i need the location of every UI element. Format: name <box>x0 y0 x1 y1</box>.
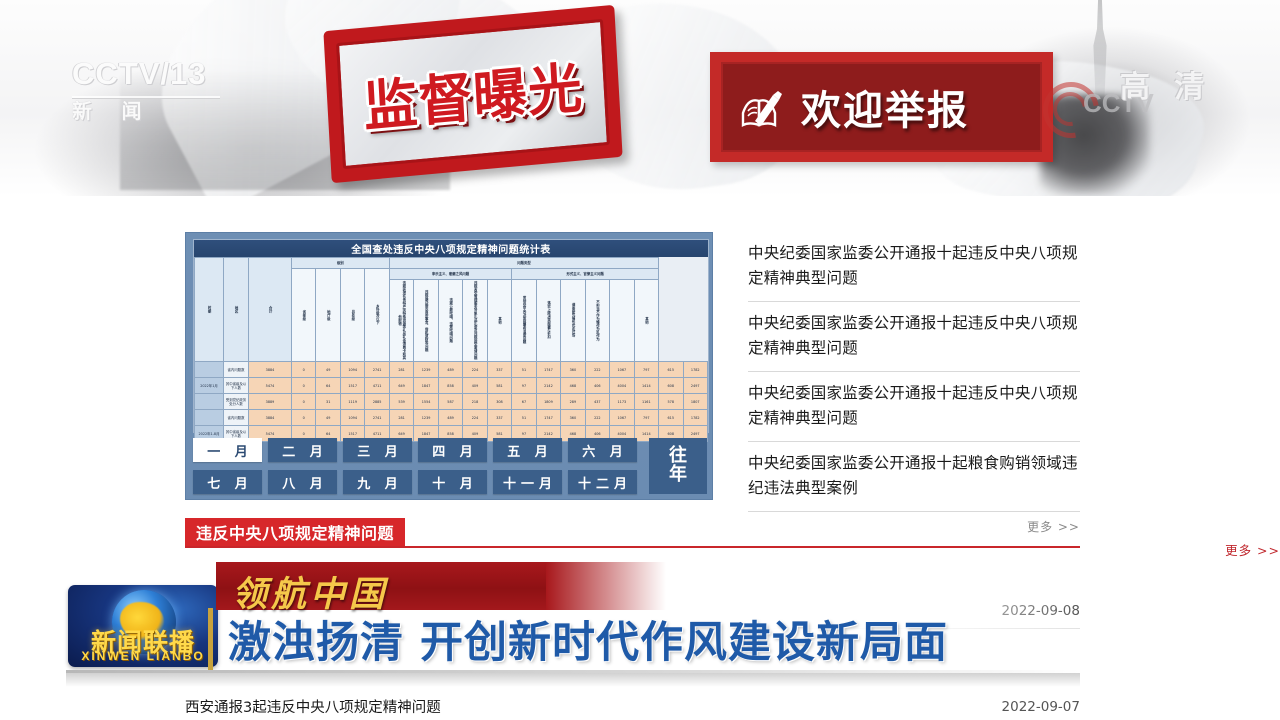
th-total: 合计 <box>249 258 292 362</box>
row-period <box>195 410 224 426</box>
cctv-logo-subtitle: 新 闻 <box>72 95 222 124</box>
statistics-table-wrapper: 全国查处违反中央八项规定精神问题统计表 时期 地区 合计 级别 问题类型 省部级… <box>193 239 709 433</box>
table-cell: 1747 <box>536 410 560 426</box>
table-cell: 4004 <box>610 378 634 394</box>
table-cell: 1847 <box>414 378 438 394</box>
statistics-table: 时期 地区 合计 级别 问题类型 省部级 地厅级 县处级 乡科级及以下 享乐主义… <box>194 257 708 442</box>
list-item[interactable]: 中央纪委国家监委公开通报十起违反中央八项规定精神典型问题 <box>748 372 1080 442</box>
cctv-channel-number: 13 <box>170 56 206 91</box>
table-cell: 649 <box>389 378 413 394</box>
table-cell: 615 <box>659 410 683 426</box>
th-formalism-group: 形式主义、官僚主义问题 <box>512 269 659 280</box>
table-cell: 489 <box>438 362 462 378</box>
month-button-8[interactable]: 八 月 <box>268 470 337 494</box>
table-cell: 2497 <box>683 378 708 394</box>
row-period <box>195 362 224 378</box>
th-form-1: 贯彻党中央决策部署有温度问题 <box>512 280 536 362</box>
table-cell: 581 <box>487 378 511 394</box>
table-cell: 409 <box>463 378 487 394</box>
month-button-label: 八 月 <box>277 473 328 492</box>
table-cell: 360 <box>561 362 585 378</box>
news-title: 中央纪委国家监委公开通报十起粮食购销领域违纪违法典型案例 <box>748 451 1080 501</box>
row-period: 2022年1月 <box>195 378 224 394</box>
th-level-3: 县处级 <box>340 269 364 362</box>
month-button-label: 五 月 <box>502 441 553 460</box>
table-cell: 1094 <box>340 362 364 378</box>
table-cell: 615 <box>659 362 683 378</box>
table-cell: 1173 <box>610 394 634 410</box>
statistics-table-title: 全国查处违反中央八项规定精神问题统计表 <box>194 240 708 257</box>
month-button-label: 十 月 <box>427 473 478 492</box>
th-period: 时期 <box>195 258 224 362</box>
table-cell: 1414 <box>634 378 658 394</box>
month-button-12[interactable]: 十二月 <box>568 470 637 494</box>
section-divider-line <box>185 546 1080 548</box>
table-cell: 281 <box>389 362 413 378</box>
row-divider <box>185 628 1080 629</box>
table-cell: 797 <box>634 362 658 378</box>
table-cell: 49 <box>316 362 340 378</box>
news-title: 中央纪委国家监委公开通报十起违反中央八项规定精神典型问题 <box>748 241 1080 291</box>
section-banner-label: 违反中央八项规定精神问题 <box>196 520 394 544</box>
report-badge-inner: 欢迎举报 <box>721 62 1042 152</box>
month-button-label: 一 月 <box>202 441 253 460</box>
table-cell: 3884 <box>249 362 292 378</box>
th-hed-5: 其他 <box>487 280 511 362</box>
th-hed-1: 违规收送名贵特产类特殊资源等礼品礼金消费卡和其他财物 <box>389 280 413 362</box>
plaque-inner-panel: 监督曝光 <box>336 19 610 169</box>
table-cell: 1809 <box>536 394 560 410</box>
table-cell: 0 <box>292 362 316 378</box>
table-cell: 51 <box>512 410 536 426</box>
table-cell: 1239 <box>414 410 438 426</box>
table-cell: 308 <box>487 394 511 410</box>
th-level-2: 地厅级 <box>316 269 340 362</box>
table-cell: 222 <box>585 362 609 378</box>
broadcast-screen: CCTV/13 新 闻 监督曝光 <box>0 0 1280 720</box>
table-cell: 437 <box>585 394 609 410</box>
th-form-6: 其他 <box>634 280 658 362</box>
table-cell: 289 <box>561 394 585 410</box>
plaque-title: 监督曝光 <box>340 41 605 144</box>
cctv13-logo: CCTV/13 新 闻 <box>72 56 222 136</box>
report-pen-book-icon <box>739 83 787 131</box>
month-button-3[interactable]: 三 月 <box>343 438 412 462</box>
table-cell: 1554 <box>414 394 438 410</box>
month-button-1[interactable]: 一 月 <box>193 438 262 462</box>
month-button-4[interactable]: 四 月 <box>418 438 487 462</box>
news-list: 中央纪委国家监委公开通报十起违反中央八项规定精神典型问题 中央纪委国家监委公开通… <box>748 232 1080 535</box>
table-row: 省内问题数38840491094274128112394892243375117… <box>195 362 708 378</box>
statistics-table-body: 省内问题数38840491094274128112394892243375117… <box>195 362 708 442</box>
section-banner: 违反中央八项规定精神问题 <box>185 518 405 546</box>
month-button-10[interactable]: 十 月 <box>418 470 487 494</box>
table-row: 2022年1月其中省级及以下人数547406415174711649184785… <box>195 378 708 394</box>
table-cell: 539 <box>389 394 413 410</box>
table-cell: 406 <box>585 378 609 394</box>
hd-watermark: 高 清 <box>1120 62 1212 106</box>
statistics-table-head: 时期 地区 合计 级别 问题类型 省部级 地厅级 县处级 乡科级及以下 享乐主义… <box>195 258 708 362</box>
month-button-label: 三 月 <box>352 441 403 460</box>
month-button-7[interactable]: 七 月 <box>193 470 262 494</box>
th-level-group: 级别 <box>292 258 390 269</box>
table-cell: 337 <box>487 362 511 378</box>
table-row: 省内问题数38840491094274128112394892243375117… <box>195 410 708 426</box>
table-cell: 51 <box>512 362 536 378</box>
table-cell: 0 <box>292 378 316 394</box>
table-cell: 337 <box>487 410 511 426</box>
table-header-row-1: 时期 地区 合计 级别 问题类型 <box>195 258 708 269</box>
month-button-label: 七 月 <box>202 473 253 492</box>
table-cell: 67 <box>512 394 536 410</box>
table-cell: 1067 <box>610 410 634 426</box>
table-cell: 2741 <box>365 362 389 378</box>
table-cell: 1161 <box>634 394 658 410</box>
table-row[interactable]: 西安通报3起违反中央八项规定精神问题 2022-09-07 <box>185 696 1080 717</box>
month-button-label: 四 月 <box>427 441 478 460</box>
table-cell: 797 <box>634 410 658 426</box>
table-cell: 1747 <box>536 362 560 378</box>
welcome-report-badge[interactable]: 欢迎举报 <box>710 52 1053 162</box>
row-region: 省内问题数 <box>224 362 249 378</box>
table-cell: 1094 <box>340 410 364 426</box>
th-hed-4: 违规收受管理服务对象礼品礼金及违规接受宴请问题 <box>463 280 487 362</box>
bottom-news-date: 2022-09-07 <box>1002 699 1080 715</box>
supervision-exposure-plaque: 监督曝光 <box>323 5 622 183</box>
table-cell: 0 <box>292 394 316 410</box>
table-cell: 1782 <box>683 410 708 426</box>
month-button-9[interactable]: 九 月 <box>343 470 412 494</box>
bottom-news-date: 2022-09-08 <box>1002 603 1080 619</box>
th-hed-3: 违规公款吃喝、违规吃喝问题 <box>438 280 462 362</box>
table-cell: 218 <box>463 394 487 410</box>
table-row: 受到党纪政务处分人数388903111192885539155458721830… <box>195 394 708 410</box>
table-cell: 222 <box>585 410 609 426</box>
list-item[interactable]: 中央纪委国家监委公开通报十起违反中央八项规定精神典型问题 <box>748 232 1080 302</box>
month-button-label: 十一月 <box>498 473 557 492</box>
news-list-more-link[interactable]: 更多 >> <box>748 512 1080 535</box>
statistics-panel: 全国查处违反中央八项规定精神问题统计表 时期 地区 合计 级别 问题类型 省部级… <box>185 232 713 500</box>
row-region: 其中省级及以下人数 <box>224 378 249 394</box>
table-cell: 2142 <box>536 378 560 394</box>
table-cell: 360 <box>561 410 585 426</box>
row-region: 受到党纪政务处分人数 <box>224 394 249 410</box>
table-cell: 1807 <box>683 394 708 410</box>
month-button-label: 二 月 <box>277 441 328 460</box>
th-hed-2: 违规操办婚丧喜庆事宜、借机敛财等问题 <box>414 280 438 362</box>
table-cell: 1517 <box>340 378 364 394</box>
month-button-label: 十二月 <box>573 473 632 492</box>
cctv-wordmark: CCTV <box>72 56 160 91</box>
th-form-5 <box>610 280 634 362</box>
news-title: 中央纪委国家监委公开通报十起违反中央八项规定精神典型问题 <box>748 381 1080 431</box>
th-level-1: 省部级 <box>292 269 316 362</box>
table-cell: 5474 <box>249 378 292 394</box>
table-cell: 489 <box>438 410 462 426</box>
table-cell: 468 <box>561 378 585 394</box>
previous-years-button[interactable]: 往 年 <box>649 438 707 494</box>
table-cell: 3884 <box>249 410 292 426</box>
table-cell: 587 <box>438 394 462 410</box>
main-content: 全国查处违反中央八项规定精神问题统计表 时期 地区 合计 级别 问题类型 省部级… <box>0 196 1280 720</box>
table-cell: 858 <box>438 378 462 394</box>
table-cell: 1239 <box>414 362 438 378</box>
year-button-line2: 年 <box>669 466 687 485</box>
table-cell: 2885 <box>365 394 389 410</box>
month-button-11[interactable]: 十一月 <box>493 470 562 494</box>
th-hedonism-group: 享乐主义、奢靡之风问题 <box>389 269 511 280</box>
header-banner: CCTV/13 新 闻 监督曝光 <box>0 0 1280 196</box>
table-cell: 224 <box>463 362 487 378</box>
table-cell: 1782 <box>683 362 708 378</box>
table-cell: 224 <box>463 410 487 426</box>
month-button-2[interactable]: 二 月 <box>268 438 337 462</box>
table-cell: 0 <box>292 410 316 426</box>
news-title: 中央纪委国家监委公开通报十起违反中央八项规定精神典型问题 <box>748 311 1080 361</box>
table-cell: 1119 <box>340 394 364 410</box>
th-form-4: 不担当不作为慢作为乱作为 <box>585 280 609 362</box>
table-cell: 97 <box>512 378 536 394</box>
table-row[interactable]: 中央纪委国家监委公开通报十起违反中央八项规定精神典型问题 2022-09-08 <box>185 600 1080 621</box>
logo-divider-line <box>72 96 220 98</box>
month-button-label: 九 月 <box>352 473 403 492</box>
list-item[interactable]: 中央纪委国家监委公开通报十起违反中央八项规定精神典型问题 <box>748 302 1080 372</box>
th-region: 地区 <box>224 258 249 362</box>
month-button-6[interactable]: 六 月 <box>568 438 637 462</box>
table-cell: 281 <box>389 410 413 426</box>
th-content-group: 问题类型 <box>389 258 658 269</box>
bottom-news-title: 中央纪委国家监委公开通报十起违反中央八项规定精神典型问题 <box>185 600 591 621</box>
table-cell: 31 <box>316 394 340 410</box>
th-form-2: 落实上级决策部署打折扣 <box>536 280 560 362</box>
table-cell: 3889 <box>249 394 292 410</box>
report-badge-label: 欢迎举报 <box>801 78 969 136</box>
th-level-4: 乡科级及以下 <box>365 269 389 362</box>
table-cell: 608 <box>659 378 683 394</box>
table-cell: 2741 <box>365 410 389 426</box>
table-cell: 64 <box>316 378 340 394</box>
cctv-logo-text: CCTV/13 <box>72 56 222 92</box>
th-form-3: 调查研究搞形式走过场 <box>561 280 585 362</box>
table-cell: 4711 <box>365 378 389 394</box>
month-button-label: 六 月 <box>577 441 628 460</box>
row-period <box>195 394 224 410</box>
row-region: 省内问题数 <box>224 410 249 426</box>
table-cell: 1067 <box>610 362 634 378</box>
list-item[interactable]: 中央纪委国家监委公开通报十起粮食购销领域违纪违法典型案例 <box>748 442 1080 512</box>
month-button-5[interactable]: 五 月 <box>493 438 562 462</box>
section-more-link[interactable]: 更多 >> <box>1225 540 1280 559</box>
table-cell: 578 <box>659 394 683 410</box>
bottom-news-title: 西安通报3起违反中央八项规定精神问题 <box>185 696 441 717</box>
month-selector: 一 月二 月三 月四 月五 月六 月七 月八 月九 月十 月十一月十二月 往 年 <box>193 438 707 494</box>
table-cell: 49 <box>316 410 340 426</box>
